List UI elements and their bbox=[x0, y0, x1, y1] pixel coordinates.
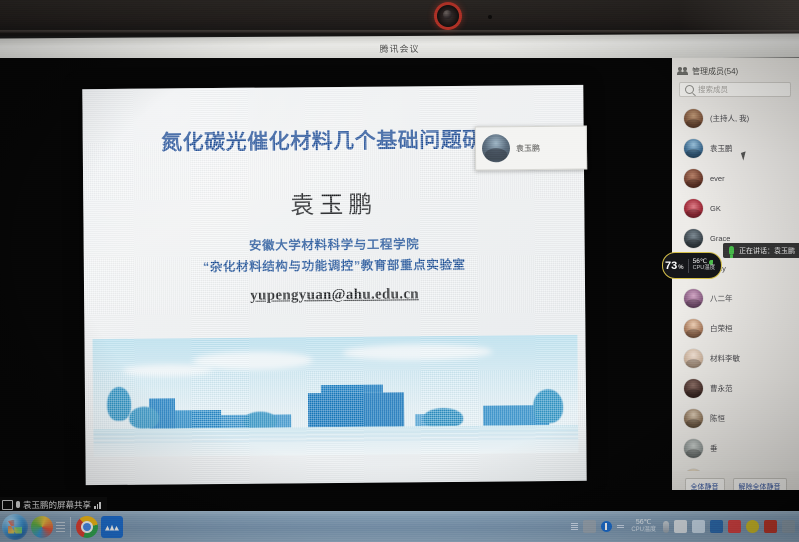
participant-name: 垂 bbox=[710, 443, 718, 454]
screen-share-label: 袁玉鹏的屏幕共享 bbox=[23, 499, 91, 511]
cloud-shape bbox=[343, 344, 493, 361]
app-title: 腾讯会议 bbox=[379, 41, 419, 54]
bezel-seam bbox=[0, 30, 799, 33]
network-mini-icon[interactable] bbox=[571, 523, 578, 530]
list-item[interactable]: 白荣桓 bbox=[672, 313, 799, 343]
slide-affiliation-line1: 安徽大学材料科学与工程学院 bbox=[84, 232, 585, 255]
avatar bbox=[684, 349, 703, 368]
avatar bbox=[684, 229, 703, 248]
list-item[interactable]: 材料李敏 bbox=[672, 343, 799, 373]
windows-start-icon[interactable] bbox=[2, 514, 28, 540]
document-tray-icon[interactable] bbox=[692, 520, 705, 533]
building-shape bbox=[321, 385, 383, 394]
cpu-temperature-label: CPU温度 bbox=[693, 266, 716, 272]
avatar bbox=[684, 169, 703, 188]
search-icon bbox=[685, 85, 694, 94]
microphone-icon bbox=[16, 501, 20, 508]
cpu-usage-value: 73 bbox=[665, 260, 677, 272]
cpu-temperature-block: 56℃ CPU温度 bbox=[693, 259, 716, 272]
network-tray-icon[interactable] bbox=[782, 520, 795, 533]
participant-name: ever bbox=[710, 174, 725, 183]
cpu-usage: 73 % bbox=[665, 260, 684, 272]
tray-cpu-label: CPU温度 bbox=[631, 527, 656, 534]
laptop-bezel bbox=[0, 0, 799, 36]
cpu-usage-unit: % bbox=[678, 265, 683, 271]
list-item[interactable]: GK bbox=[672, 193, 799, 223]
screen-share-indicator: 袁玉鹏的屏幕共享 bbox=[0, 497, 107, 512]
building-shape bbox=[308, 392, 404, 427]
info-badge-icon[interactable] bbox=[601, 521, 612, 532]
meeting-stage: 氮化碳光催化材料几个基础问题研究 袁玉鹏 安徽大学材料科学与工程学院 “杂化材料… bbox=[0, 58, 672, 490]
participant-name: 陈恒 bbox=[710, 413, 725, 424]
slide-affiliation-line2: “杂化材料结构与功能调控”教育部重点实验室 bbox=[84, 253, 585, 276]
list-item[interactable]: 八二年 bbox=[672, 283, 799, 313]
hardware-monitor-overlay[interactable]: 73 % 56℃ CPU温度 bbox=[662, 252, 722, 279]
slide-email: yupengyuan@ahu.edu.cn bbox=[84, 285, 585, 306]
participant-name: 袁玉鹏 bbox=[710, 143, 733, 154]
tray-cpu-temperature: 56℃ bbox=[636, 519, 652, 527]
windows-taskbar: 56℃ CPU温度 bbox=[0, 511, 799, 542]
bezel-microphone-icon bbox=[488, 15, 492, 19]
avatar bbox=[684, 409, 703, 428]
participant-name: 八二年 bbox=[710, 293, 733, 304]
participants-header-label: 管理成员(54) bbox=[692, 66, 738, 77]
speaking-toast-text: 正在讲话：袁玉鹏 bbox=[739, 246, 795, 256]
campus-photo bbox=[92, 335, 578, 457]
chrome-icon[interactable] bbox=[76, 516, 98, 538]
avatar bbox=[684, 379, 703, 398]
tree-shape bbox=[129, 407, 159, 429]
participant-name: GK bbox=[710, 204, 721, 213]
self-video-name: 袁玉鹏 bbox=[516, 142, 540, 153]
avatar bbox=[482, 134, 510, 162]
search-placeholder: 搜索成员 bbox=[698, 84, 728, 95]
participant-name: (主持人, 我) bbox=[710, 113, 749, 124]
pinwheel-app-icon[interactable] bbox=[31, 516, 53, 538]
list-item[interactable]: ever bbox=[672, 163, 799, 193]
taskbar-left bbox=[0, 511, 123, 542]
speaking-toast: 正在讲话：袁玉鹏 bbox=[723, 243, 799, 258]
avatar bbox=[684, 289, 703, 308]
participant-name: Grace bbox=[710, 234, 730, 243]
divider bbox=[688, 259, 689, 273]
participants-header: 管理成员(54) bbox=[678, 66, 738, 77]
participants-panel: 管理成员(54) 搜索成员 (主持人, 我) 袁玉鹏 ever GK bbox=[672, 58, 799, 503]
system-tray: 56℃ CPU温度 bbox=[571, 511, 799, 542]
avatar bbox=[684, 439, 703, 458]
list-item[interactable]: 陈恒 bbox=[672, 403, 799, 433]
list-item[interactable]: (主持人, 我) bbox=[672, 103, 799, 133]
tree-shape bbox=[107, 387, 131, 421]
self-video-tile[interactable]: 袁玉鹏 bbox=[475, 126, 587, 171]
divider bbox=[70, 517, 71, 537]
signal-strength-icon bbox=[94, 501, 101, 509]
screen-share-icon bbox=[2, 500, 13, 510]
alert-tray-icon[interactable] bbox=[728, 520, 741, 533]
avatar bbox=[684, 109, 703, 128]
participant-name: 白荣桓 bbox=[710, 323, 733, 334]
notes-tray-icon[interactable] bbox=[674, 520, 687, 533]
list-item[interactable]: 垂 bbox=[672, 433, 799, 463]
participant-list[interactable]: (主持人, 我) 袁玉鹏 ever GK Grace Tony bbox=[672, 103, 799, 503]
avatar bbox=[684, 319, 703, 338]
tray-cpu-monitor[interactable]: 56℃ CPU温度 bbox=[629, 519, 658, 533]
water-reflection bbox=[93, 425, 578, 457]
taskbar-handle-icon[interactable] bbox=[56, 522, 65, 532]
participant-name: 曹永范 bbox=[710, 383, 733, 394]
slide-author: 袁玉鹏 bbox=[83, 183, 584, 222]
screen-letterbox bbox=[0, 490, 799, 511]
laptop-screen-photo: 腾讯会议 氮化碳光催化材料几个基础问题研究 袁玉鹏 安徽大学材料科学与工程学院 … bbox=[0, 0, 799, 542]
participant-name: 材料李敏 bbox=[710, 353, 740, 364]
webcam-icon bbox=[437, 5, 459, 27]
list-item[interactable]: 袁玉鹏 bbox=[672, 133, 799, 163]
microphone-tray-icon[interactable] bbox=[663, 521, 669, 533]
cloud-shape bbox=[123, 364, 213, 377]
shield-tray-icon[interactable] bbox=[746, 520, 759, 533]
app-tray-icon[interactable] bbox=[710, 520, 723, 533]
list-item[interactable]: 曹永范 bbox=[672, 373, 799, 403]
microphone-icon bbox=[729, 246, 734, 255]
search-input[interactable]: 搜索成员 bbox=[679, 82, 791, 97]
battery-icon[interactable] bbox=[583, 520, 596, 533]
avatar bbox=[684, 139, 703, 158]
volume-tray-icon[interactable] bbox=[764, 520, 777, 533]
settings-mini-icon[interactable] bbox=[617, 525, 624, 528]
avatar bbox=[684, 199, 703, 218]
tree-shape bbox=[533, 389, 563, 423]
people-icon bbox=[678, 67, 688, 76]
meeting-app-icon[interactable] bbox=[101, 516, 123, 538]
